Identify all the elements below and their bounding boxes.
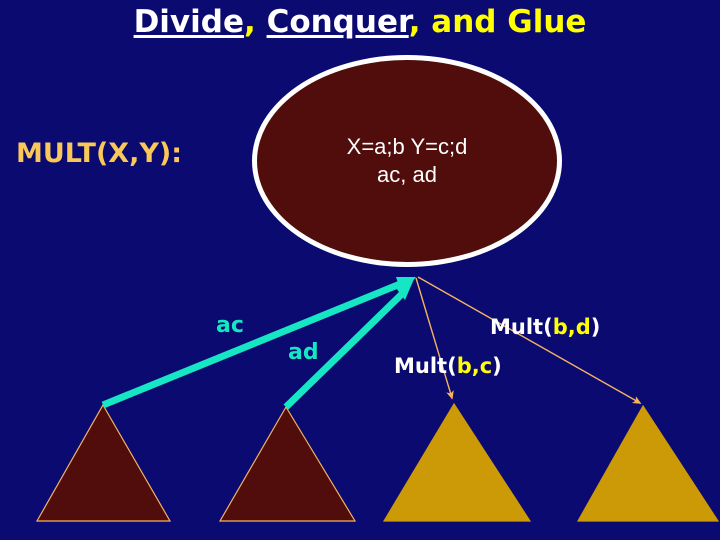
mult-caption: MULT(X,Y): [16,138,182,169]
ellipse-line-2: ac, ad [377,161,437,189]
label-mult-bc-args: b,c [457,354,492,378]
title-comma-2: , [409,4,421,40]
arrow-ac [103,277,416,405]
label-mult-bd: Mult(b,d) [490,315,600,339]
label-mult-bd-suffix: ) [591,315,601,339]
triangle-4 [578,406,718,521]
label-mult-bc-prefix: Mult( [394,354,457,378]
arrow-mult-bc [416,278,452,398]
title-word-divide: Divide [134,4,244,40]
slide-canvas: Divide, Conquer, and Glue MULT(X,Y): X=a… [0,0,720,540]
label-mult-bc-suffix: ) [492,354,502,378]
label-mult-bd-prefix: Mult( [490,315,553,339]
title-word-and-glue: and Glue [431,4,586,40]
label-mult-bd-args: b,d [553,315,591,339]
label-mult-bc: Mult(b,c) [394,354,502,378]
arrow-mult-bd [418,277,640,403]
triangle-1 [37,405,170,521]
label-ac: ac [216,313,244,338]
title-comma-1: , [244,4,256,40]
label-ad: ad [288,340,319,365]
title-word-conquer: Conquer [267,4,409,40]
page-title: Divide, Conquer, and Glue [0,4,720,40]
ellipse-line-1: X=a;b Y=c;d [347,133,468,161]
triangle-3 [384,404,530,521]
root-ellipse-node: X=a;b Y=c;d ac, ad [252,55,562,267]
triangle-2 [220,407,355,521]
